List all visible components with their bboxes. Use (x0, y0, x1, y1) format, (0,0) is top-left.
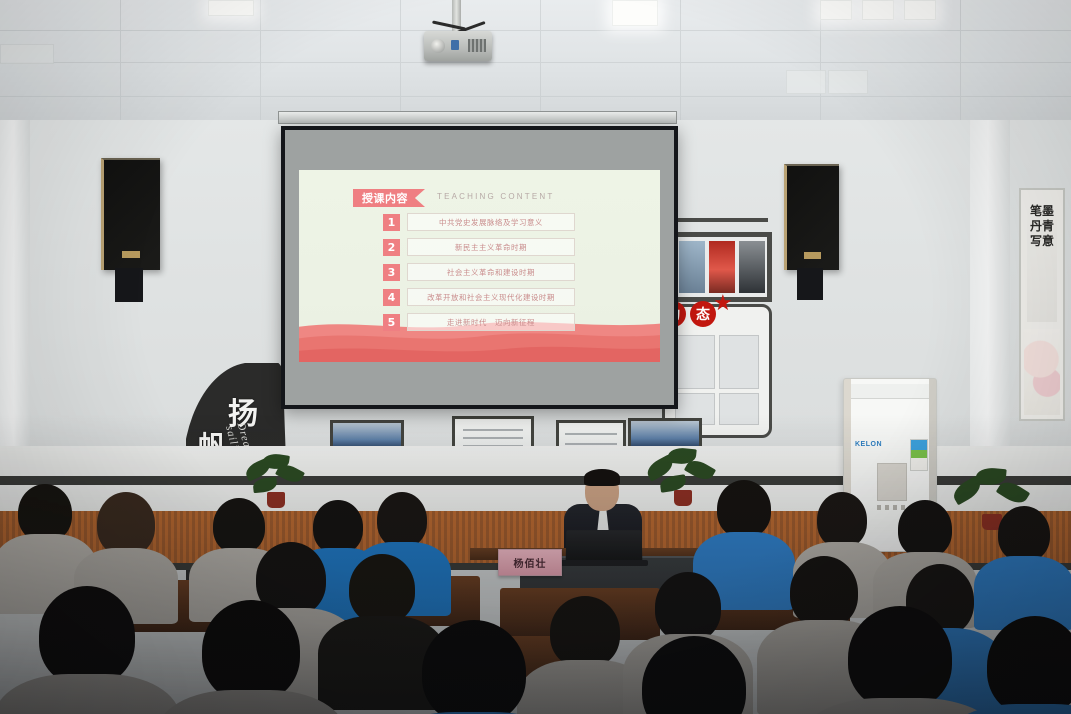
slide-section-tag-english: TEACHING CONTENT (437, 192, 554, 201)
ceiling-light (904, 0, 936, 20)
projector-port (451, 40, 459, 50)
slide-item-text: 新民主主义革命时期 (407, 238, 575, 256)
wall-speaker-left (101, 158, 160, 270)
slide-item-number: 3 (383, 264, 400, 281)
attendee (960, 616, 1071, 714)
slide-item-list: 1 中共党史发展脉络及学习意义 2 新民主主义革命时期 3 社会主义革命和建设时… (383, 213, 575, 338)
projection-screen: 授课内容 TEACHING CONTENT 1 中共党史发展脉络及学习意义 2 … (281, 126, 678, 409)
speaker-badge (804, 252, 821, 259)
scroll-floral-art (1024, 329, 1060, 415)
wall-speaker-left-bracket (115, 268, 143, 302)
board-photo (679, 241, 705, 293)
ceiling-projector (424, 31, 492, 61)
projection-surface: 授课内容 TEACHING CONTENT 1 中共党史发展脉络及学习意义 2 … (285, 130, 674, 405)
slide-item-text: 改革开放和社会主义现代化建设时期 (407, 288, 575, 306)
ac-brand-label: KELON (855, 441, 882, 448)
bulletin-panel (719, 335, 759, 389)
presentation-slide: 授课内容 TEACHING CONTENT 1 中共党史发展脉络及学习意义 2 … (299, 170, 660, 362)
ceiling-panel (0, 44, 54, 64)
name-placard: 杨佰壮 (498, 549, 562, 576)
slide-item-text: 走进新时代 迈向新征程 (407, 313, 575, 331)
slide-item-number: 4 (383, 289, 400, 306)
slide-section-tag: 授课内容 (353, 189, 425, 207)
red-star-icon: ★ (713, 292, 733, 314)
wall-speaker-right-bracket (797, 268, 823, 300)
presenter-hair (584, 469, 620, 486)
scroll-calligraphy: 笔墨丹青写意 (1027, 204, 1057, 322)
ceiling-light (612, 0, 658, 26)
ceiling (0, 0, 1071, 128)
ceiling-panel (786, 70, 826, 94)
board-photo (739, 241, 765, 293)
slide-item-number: 5 (383, 314, 400, 331)
speaker-badge (122, 251, 140, 258)
ceiling-panel (828, 70, 868, 94)
bulletin-panel (719, 393, 759, 425)
slide-item-number: 1 (383, 214, 400, 231)
lecture-hall-photo: 扬 帆 起 航 Dream of sailing 动 态 ★ (0, 0, 1071, 714)
wall-speaker-right (784, 164, 839, 270)
slide-item: 2 新民主主义革命时期 (383, 238, 575, 256)
attendee (176, 600, 326, 714)
calligraphy-scroll: 笔墨丹青写意 (1019, 188, 1065, 421)
slide-item: 3 社会主义革命和建设时期 (383, 263, 575, 281)
attendee (614, 636, 774, 714)
film-strip (677, 237, 767, 297)
slide-item-text: 社会主义革命和建设时期 (407, 263, 575, 281)
board-photo (709, 241, 735, 293)
ceiling-light (862, 0, 894, 20)
projector-lens (431, 39, 445, 53)
projection-screen-housing (278, 111, 677, 124)
attendee (820, 606, 980, 714)
attendee (12, 586, 162, 714)
attendee (394, 620, 554, 714)
slide-item: 4 改革开放和社会主义现代化建设时期 (383, 288, 575, 306)
ac-vent (851, 384, 929, 399)
ceiling-light (820, 0, 852, 20)
projector-vent (468, 39, 486, 52)
slide-item: 1 中共党史发展脉络及学习意义 (383, 213, 575, 231)
ac-energy-label (910, 439, 928, 471)
slide-item-text: 中共党史发展脉络及学习意义 (407, 213, 575, 231)
slide-item-number: 2 (383, 239, 400, 256)
ceiling-light (208, 0, 254, 16)
laptop[interactable] (566, 530, 643, 563)
laptop-base (560, 560, 648, 566)
bulletin-panel (675, 335, 715, 389)
slide-item: 5 走进新时代 迈向新征程 (383, 313, 575, 331)
